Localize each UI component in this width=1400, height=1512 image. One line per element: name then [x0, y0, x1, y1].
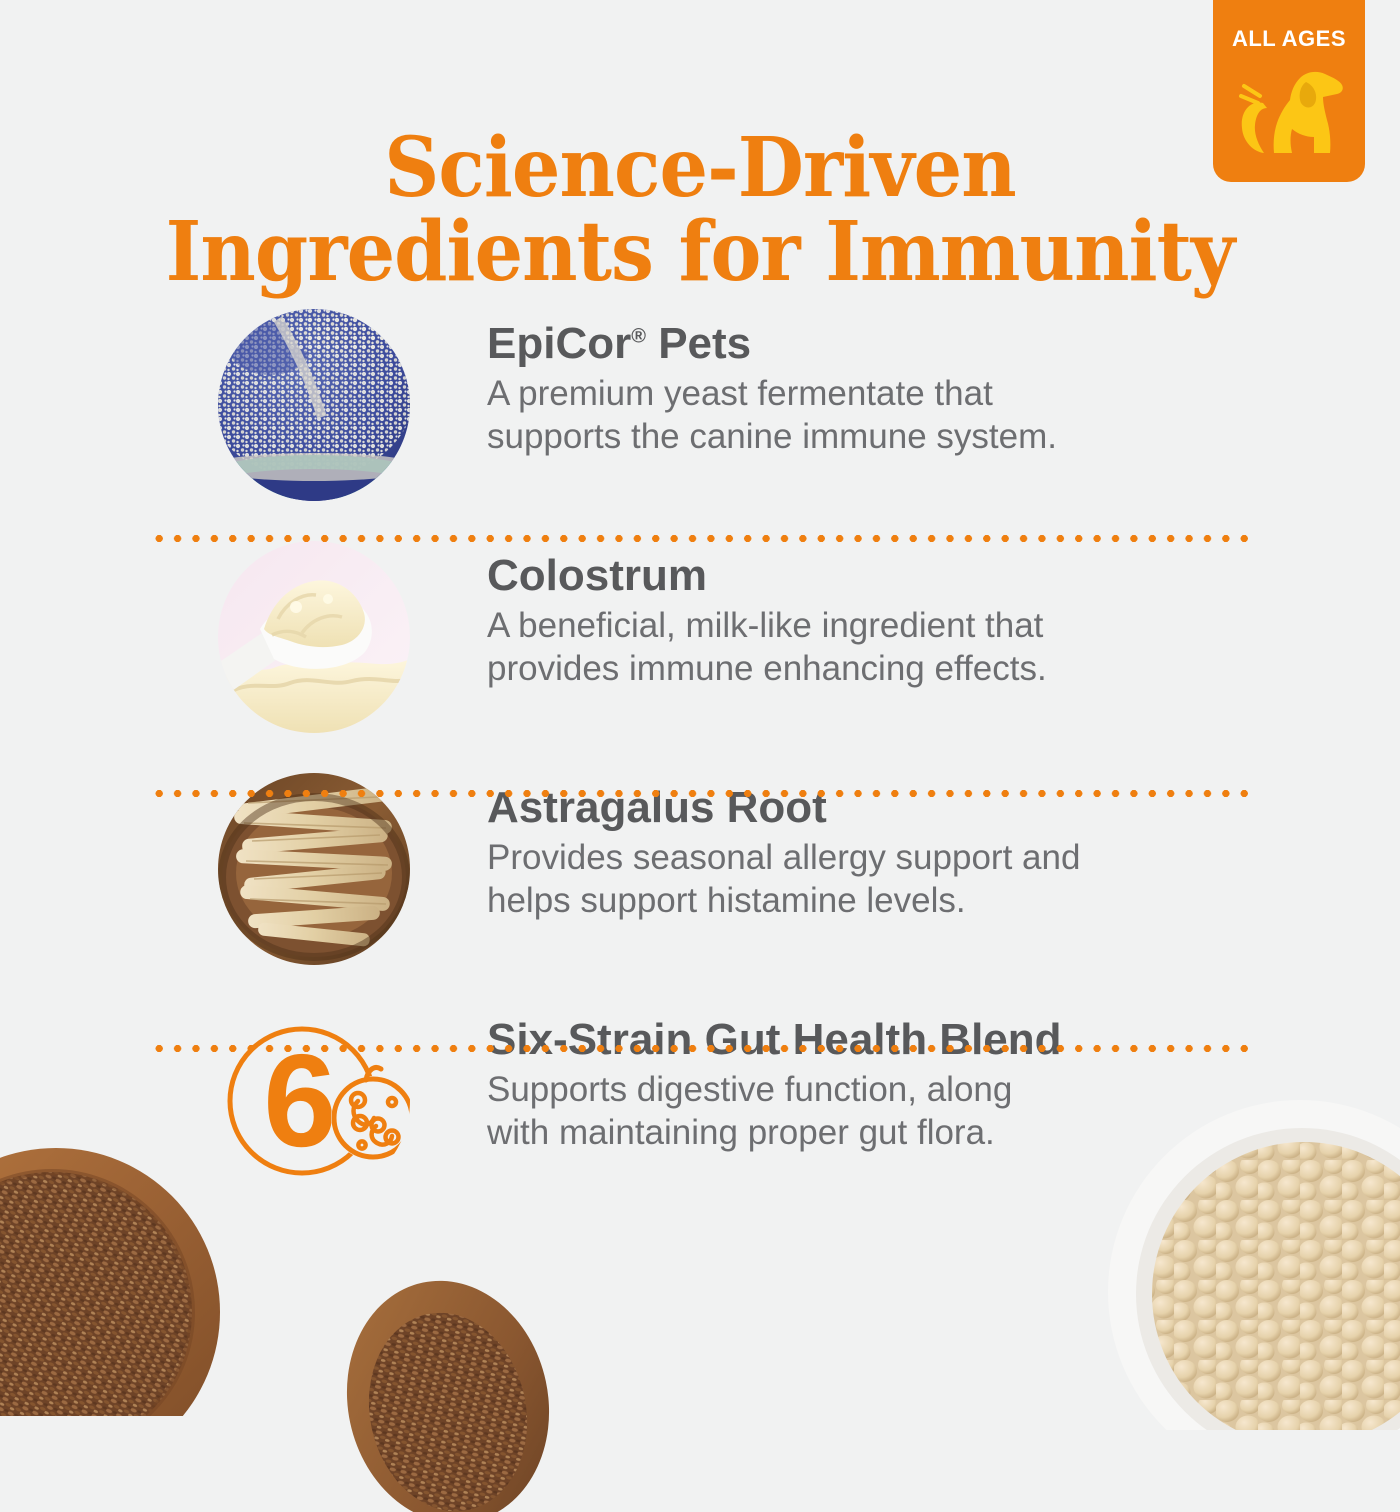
ingredient-name: EpiCor: [487, 319, 631, 368]
dried-astragalus-root-slices-photo: [218, 773, 410, 965]
ingredient-description-line-2: provides immune enhancing effects.: [487, 647, 1047, 690]
ingredient-text: Colostrum A beneficial, milk-like ingred…: [487, 527, 1047, 690]
all-ages-badge: ALL AGES: [1213, 0, 1365, 182]
ingredient-row: EpiCor® Pets A premium yeast fermentate …: [0, 295, 1400, 527]
ingredient-description-line-1: A beneficial, milk-like ingredient that: [487, 604, 1047, 647]
petri-dish-yeast-colonies-photo: [218, 309, 410, 501]
registered-trademark-symbol: ®: [631, 325, 646, 347]
ingredient-description-line-1: Provides seasonal allergy support and: [487, 836, 1080, 879]
ingredient-description-line-1: Supports digestive function, along: [487, 1068, 1062, 1111]
page-title-line-1: Science-Driven: [49, 127, 1351, 211]
ingredient-description: Provides seasonal allergy support and he…: [487, 836, 1080, 923]
sitting-dog-silhouette-icon: [1230, 56, 1348, 164]
ingredient-text: Astragalus Root Provides seasonal allerg…: [487, 759, 1080, 922]
ingredient-description: A beneficial, milk-like ingredient that …: [487, 604, 1047, 691]
flaxseed-wooden-spoon-photo: [336, 1262, 586, 1512]
ingredient-description: Supports digestive function, along with …: [487, 1068, 1062, 1155]
ingredient-title: Colostrum: [487, 553, 1047, 600]
ingredient-description-line-2: supports the canine immune system.: [487, 415, 1057, 458]
page-title-line-2: Ingredients for Immunity: [49, 211, 1351, 295]
ingredient-name-suffix: Pets: [646, 319, 751, 368]
dotted-divider: [150, 789, 1250, 798]
all-ages-label: ALL AGES: [1232, 28, 1346, 50]
page-title: Science-Driven Ingredients for Immunity: [49, 127, 1351, 294]
dotted-divider: [150, 534, 1250, 543]
colostrum-powder-scoop-photo: [218, 541, 410, 733]
ingredient-list: EpiCor® Pets A premium yeast fermentate …: [0, 295, 1400, 1223]
ingredient-text: Six-Strain Gut Health Blend Supports dig…: [487, 991, 1062, 1154]
ingredient-text: EpiCor® Pets A premium yeast fermentate …: [487, 295, 1057, 458]
six-probiotic-strains-icon: 6: [218, 1005, 410, 1197]
ingredient-description-line-1: A premium yeast fermentate that: [487, 372, 1057, 415]
ingredient-row: Colostrum A beneficial, milk-like ingred…: [0, 527, 1400, 759]
ingredient-row: 6 Six-Strain Gut Health Bl: [0, 991, 1400, 1223]
ingredient-title: EpiCor® Pets: [487, 321, 1057, 368]
ingredient-description-line-2: with maintaining proper gut flora.: [487, 1111, 1062, 1154]
dotted-divider: [150, 1044, 1250, 1053]
ingredient-description-line-2: helps support histamine levels.: [487, 879, 1080, 922]
ingredient-title: Six-Strain Gut Health Blend: [487, 1017, 1062, 1064]
ingredient-description: A premium yeast fermentate that supports…: [487, 372, 1057, 459]
